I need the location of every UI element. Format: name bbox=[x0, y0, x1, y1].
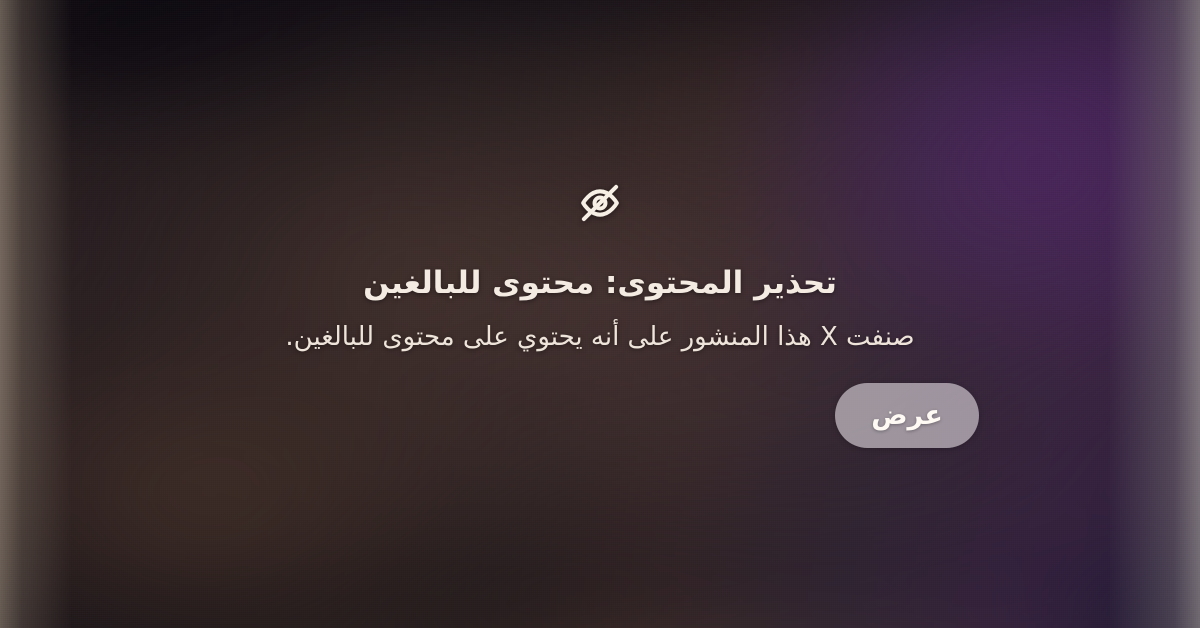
warning-button-row: عرض bbox=[219, 383, 981, 448]
content-warning-overlay: تحذير المحتوى: محتوى للبالغين صنفت X هذا… bbox=[0, 0, 1200, 628]
eye-off-icon bbox=[577, 180, 623, 226]
content-warning-title: تحذير المحتوى: محتوى للبالغين bbox=[363, 264, 837, 303]
content-warning-screen: تحذير المحتوى: محتوى للبالغين صنفت X هذا… bbox=[0, 0, 1200, 628]
view-content-button[interactable]: عرض bbox=[835, 383, 979, 448]
content-warning-description: صنفت X هذا المنشور على أنه يحتوي على محت… bbox=[285, 320, 914, 355]
warning-content-block: تحذير المحتوى: محتوى للبالغين صنفت X هذا… bbox=[220, 180, 980, 449]
